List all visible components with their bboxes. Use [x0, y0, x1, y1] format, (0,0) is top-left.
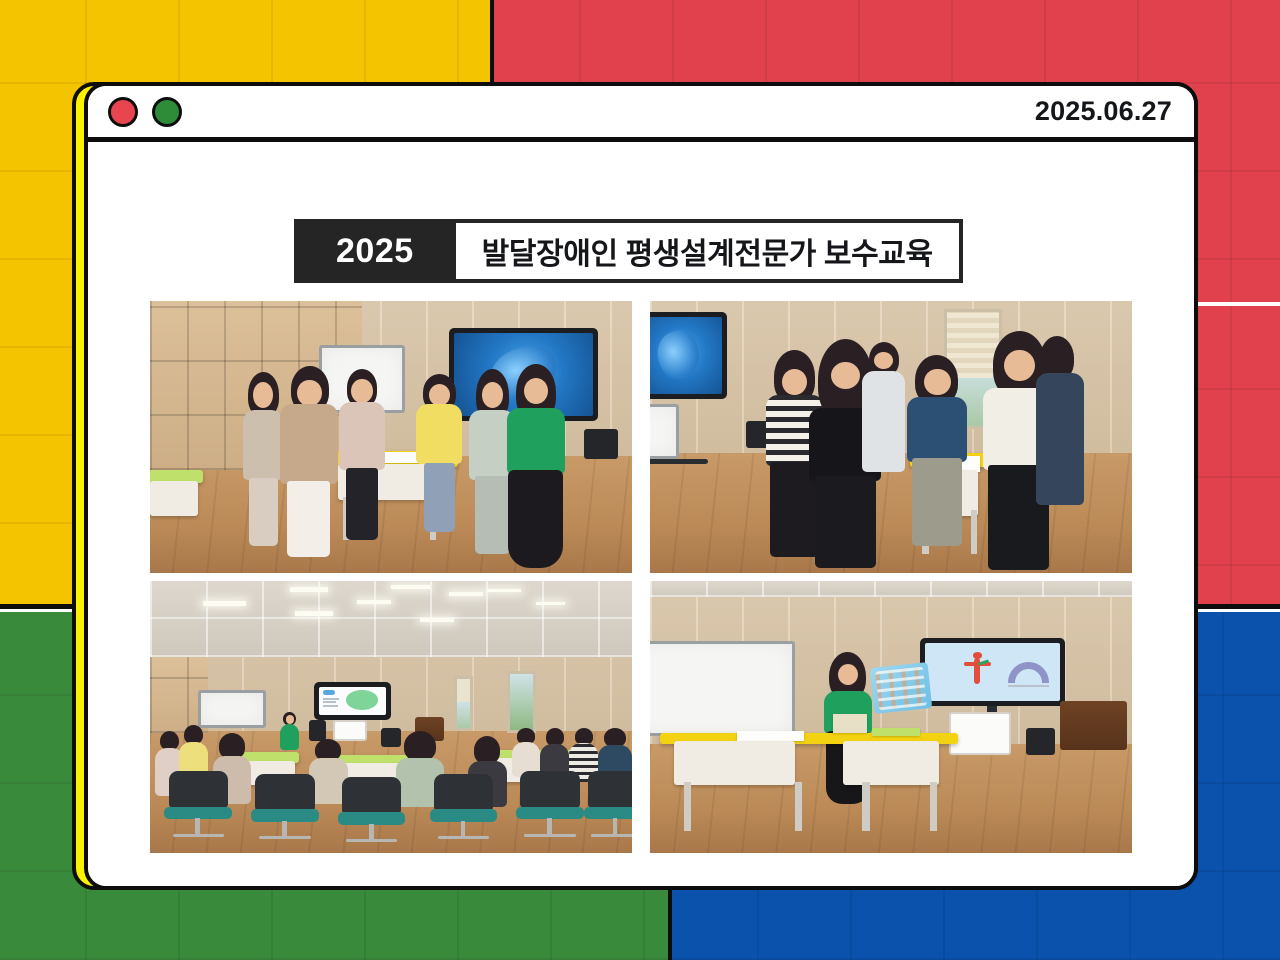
photo-4-table-leg-a	[684, 782, 692, 831]
photo-1-person-4	[415, 374, 463, 532]
photo-3-chair-6	[584, 771, 632, 842]
photo-4-ceiling	[650, 581, 1132, 597]
photo-4-podium	[949, 712, 1012, 756]
photo-1-person-2	[280, 366, 338, 556]
photo-4-whiteboard	[650, 641, 795, 736]
photo-4-piano	[1060, 701, 1127, 750]
headline-title: 발달장애인 평생설계전문가 보수교육	[456, 219, 963, 283]
photo-4-table-leg-b	[795, 782, 803, 831]
photo-grid	[150, 301, 1140, 869]
photo-3-ceiling	[150, 581, 632, 657]
photo-2-whiteboard-easel	[650, 404, 679, 458]
photo-1-speaker	[584, 429, 618, 459]
date-label: 2025.06.27	[1035, 96, 1172, 127]
headline-banner: 2025 발달장애인 평생설계전문가 보수교육	[294, 219, 963, 283]
photo-4-table-body-right	[843, 741, 939, 785]
photo-4[interactable]	[650, 581, 1132, 853]
photo-3-presentation-display	[314, 682, 391, 720]
photo-4-activity-poster	[869, 662, 931, 714]
photo-3-presenter	[280, 712, 299, 750]
headline-year: 2025	[294, 219, 456, 283]
photo-1-green-table-body	[150, 481, 198, 516]
photo-2[interactable]	[650, 301, 1132, 573]
photo-3-chair-5	[516, 771, 583, 842]
photo-4-display	[920, 638, 1065, 706]
photo-1-person-3	[338, 369, 386, 540]
photo-4-table-leg-d	[930, 782, 938, 831]
close-button[interactable]	[108, 97, 138, 127]
photo-2-display	[650, 312, 727, 399]
photo-1[interactable]	[150, 301, 632, 573]
photo-3-chair-3	[338, 777, 405, 848]
photo-3-chair-1	[164, 771, 231, 842]
photo-2-table-leg-b	[971, 510, 977, 554]
photo-3-whiteboard	[198, 690, 265, 728]
maximize-button[interactable]	[152, 97, 182, 127]
window-control-buttons	[108, 97, 182, 127]
photo-4-table-leg-c	[862, 782, 870, 831]
photo-4-materials-a	[737, 731, 804, 742]
photo-3-chair-2	[251, 774, 318, 845]
photo-4-speaker	[1026, 728, 1055, 755]
app-window: 2025.06.27 2025 발달장애인 평생설계전문가 보수교육	[84, 82, 1198, 890]
window-body: 2025 발달장애인 평생설계전문가 보수교육	[88, 142, 1194, 889]
photo-3-chair-4	[430, 774, 497, 845]
photo-2-person-6	[1036, 336, 1084, 505]
photo-4-materials-box	[833, 714, 867, 733]
photo-2-person-3	[862, 342, 905, 473]
photo-3[interactable]	[150, 581, 632, 853]
photo-3-window-a	[454, 676, 473, 730]
photo-1-person-1	[242, 372, 285, 546]
photo-3-window-b	[507, 671, 536, 734]
photo-4-table-body-left	[674, 741, 795, 785]
photo-1-person-6	[507, 364, 565, 568]
window-titlebar: 2025.06.27	[88, 86, 1194, 142]
photo-3-attendee-7	[512, 728, 541, 777]
photo-4-materials-b	[872, 728, 920, 736]
photo-2-person-4	[905, 355, 968, 545]
photo-2-display-base	[650, 459, 708, 464]
